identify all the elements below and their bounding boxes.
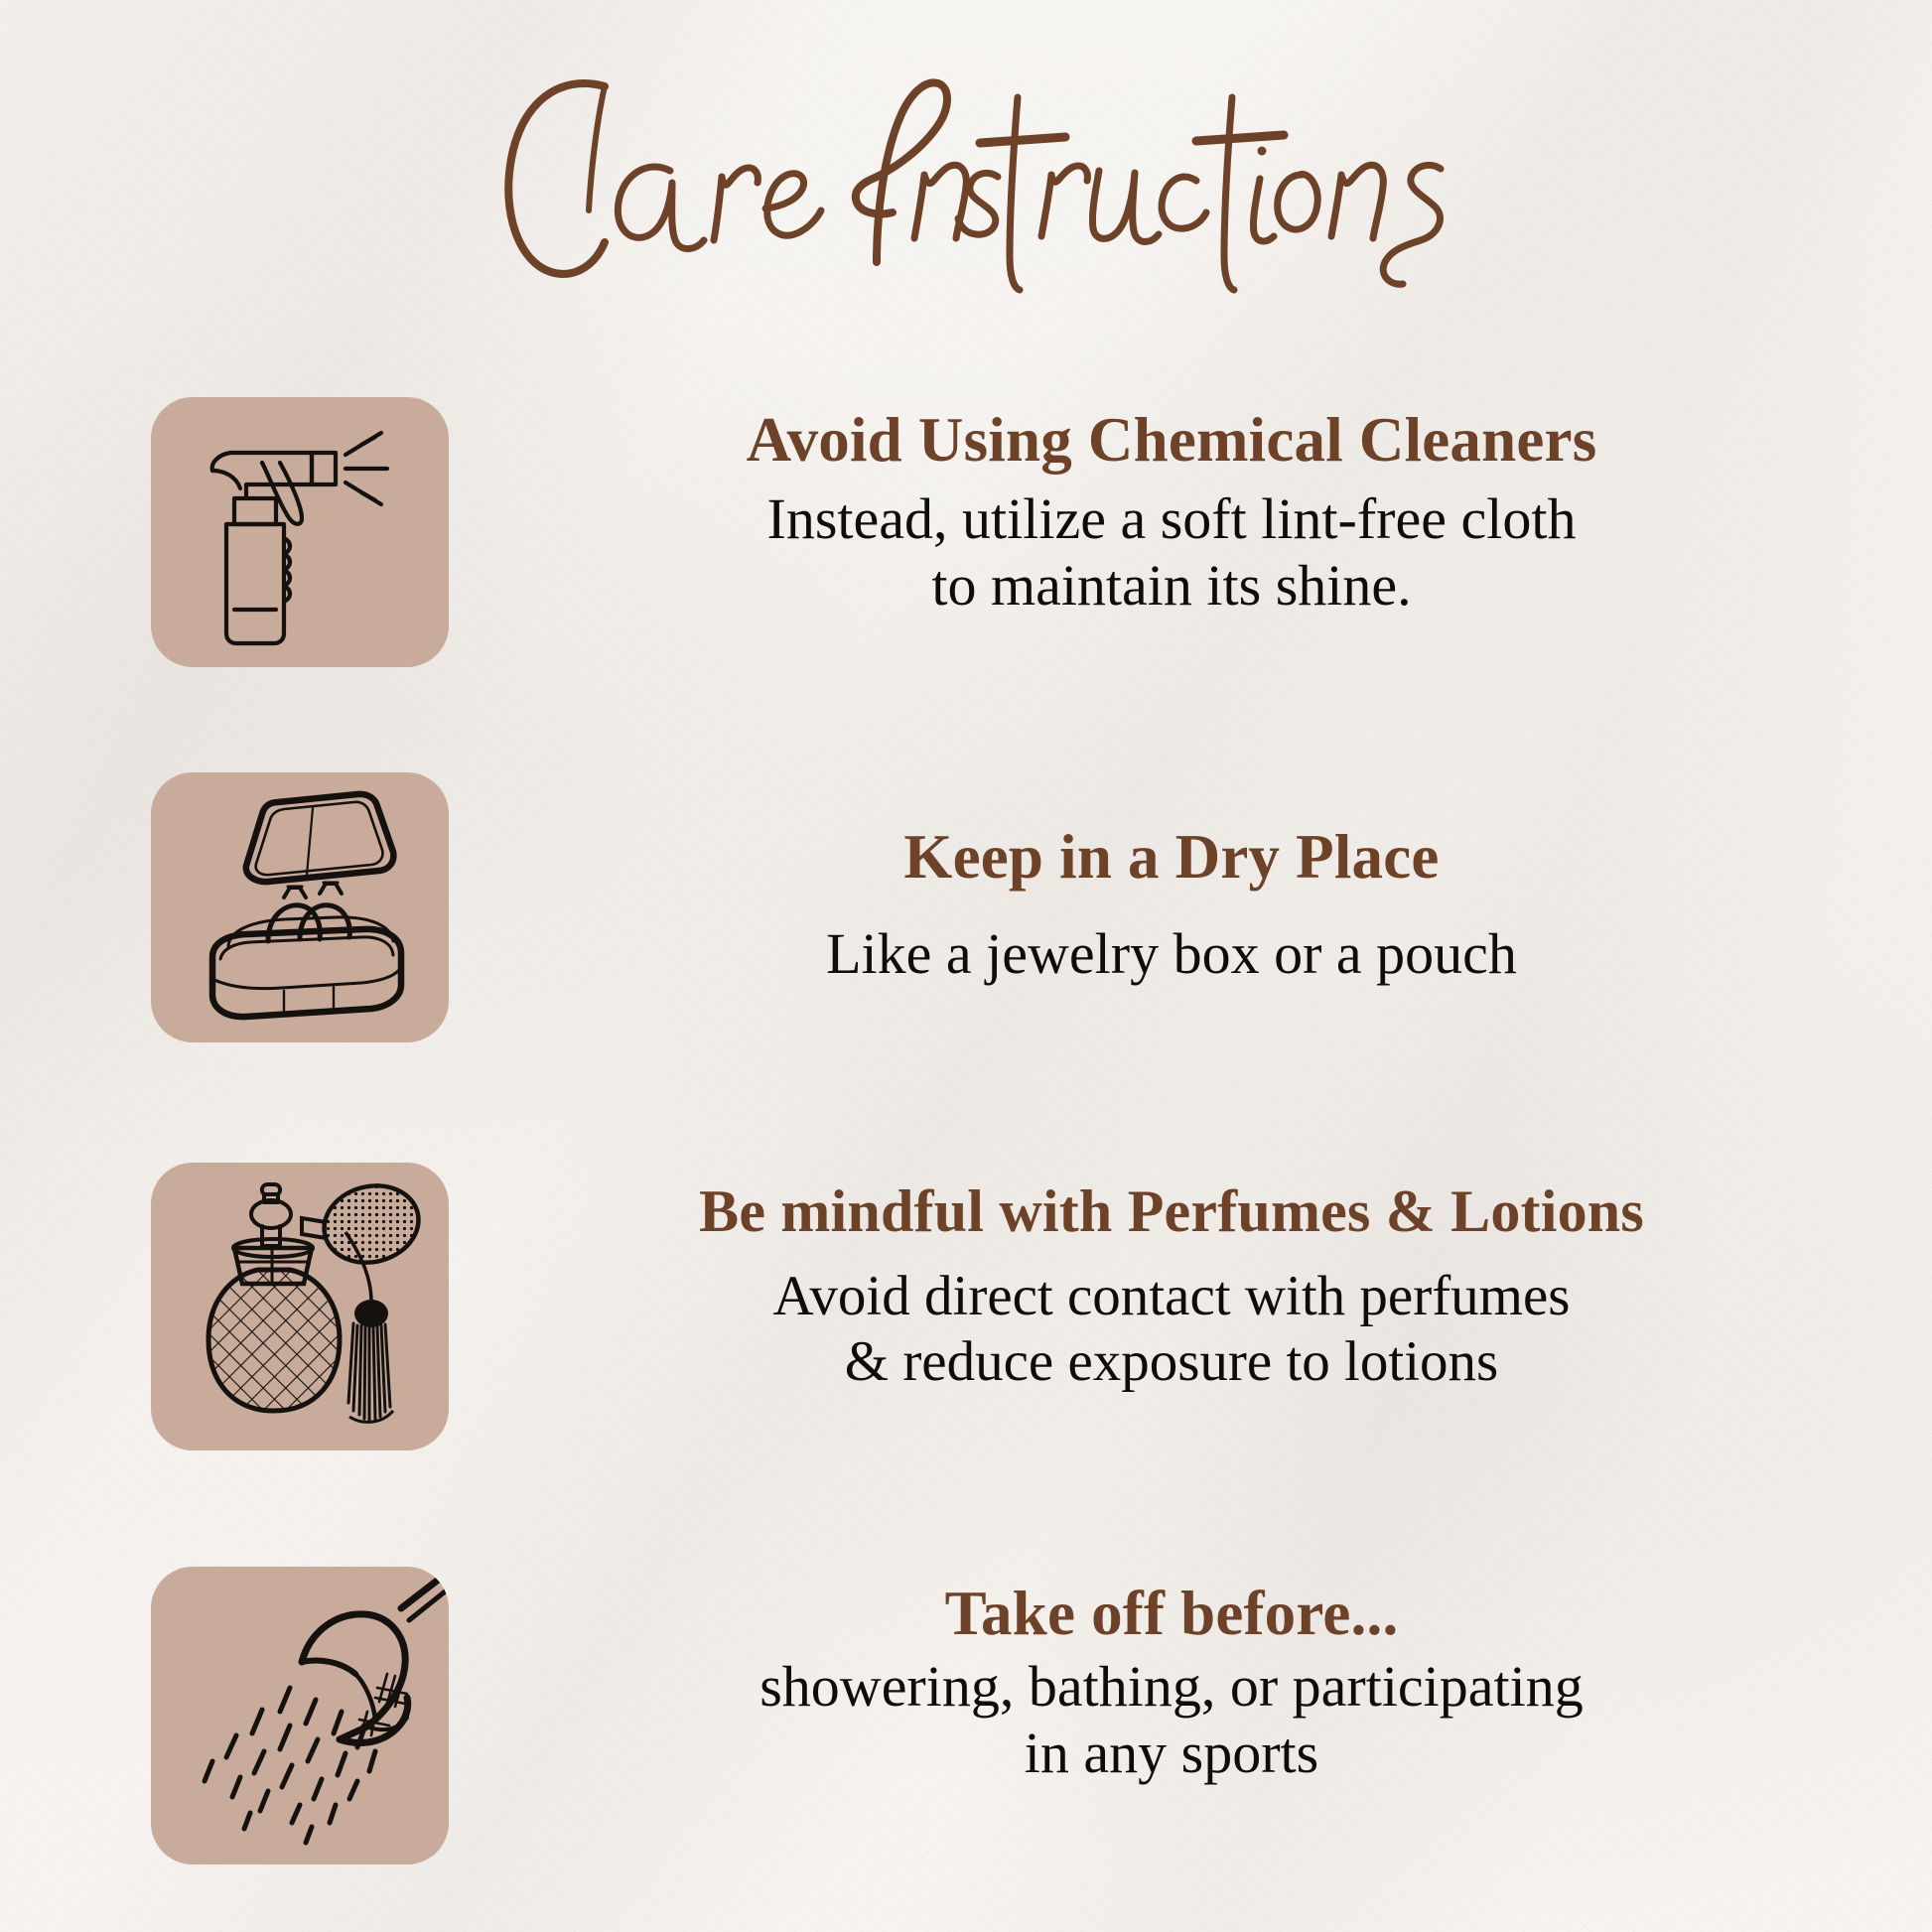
shower-head-glyph [151,1567,449,1864]
care-item: Keep in a Dry Place Like a jewelry box o… [0,772,1932,1042]
care-item-heading: Be mindful with Perfumes & Lotions [490,1180,1853,1244]
care-item-text: Keep in a Dry Place Like a jewelry box o… [449,772,1932,987]
care-item: Take off before... showering, bathing, o… [0,1567,1932,1864]
care-item-text: Avoid Using Chemical Cleaners Instead, u… [449,397,1932,619]
care-item-heading: Take off before... [490,1581,1853,1647]
care-item-text: Be mindful with Perfumes & Lotions Avoid… [449,1163,1932,1395]
care-item-body: Avoid direct contact with perfumes & red… [490,1264,1853,1395]
care-item-body-line: to maintain its shine. [490,552,1853,619]
shower-head-icon [151,1567,449,1864]
perfume-atomizer-glyph [151,1163,449,1450]
care-item-body-line: & reduce exposure to lotions [490,1329,1853,1395]
care-item-body-line: Like a jewelry box or a pouch [490,920,1853,987]
care-item-body: Like a jewelry box or a pouch [490,920,1853,987]
spray-bottle-icon [151,397,449,667]
care-item-body: Instead, utilize a soft lint-free cloth … [490,485,1853,620]
spray-bottle-glyph [151,397,449,667]
care-item-body-line: in any sports [490,1720,1853,1786]
care-item-text: Take off before... showering, bathing, o… [449,1567,1932,1786]
jewelry-box-icon [151,772,449,1042]
care-item-body-line: Instead, utilize a soft lint-free cloth [490,485,1853,552]
care-item: Avoid Using Chemical Cleaners Instead, u… [0,397,1932,667]
perfume-atomizer-icon [151,1163,449,1450]
title-script-lettering: Care Instructions [410,52,1522,300]
page-title: Care Instructions [0,52,1932,300]
care-item-body-line: showering, bathing, or participating [490,1653,1853,1720]
jewelry-box-glyph [151,772,449,1042]
care-instructions-page: Care Instructions [0,0,1932,1932]
care-item-heading: Keep in a Dry Place [490,824,1853,891]
care-item-heading: Avoid Using Chemical Cleaners [490,407,1853,474]
care-item-body: showering, bathing, or participating in … [490,1653,1853,1787]
care-item: Be mindful with Perfumes & Lotions Avoid… [0,1163,1932,1450]
care-item-body-line: Avoid direct contact with perfumes [490,1264,1853,1329]
